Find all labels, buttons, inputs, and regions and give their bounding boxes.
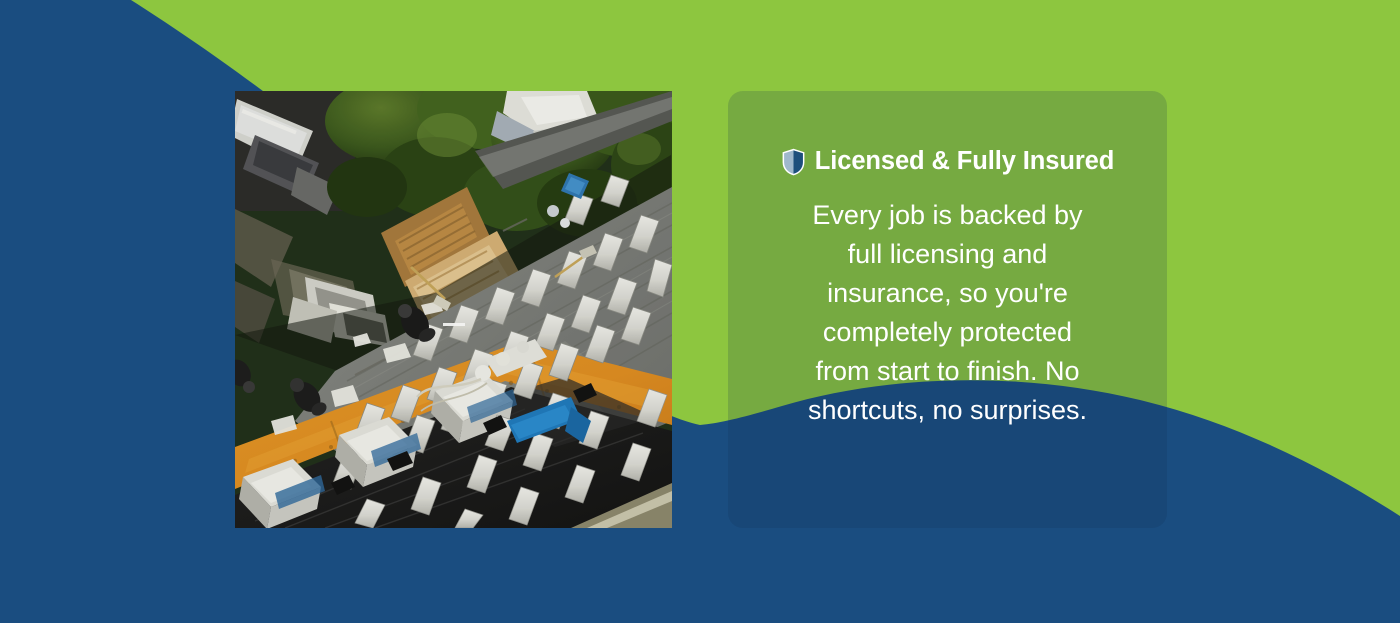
shield-icon [781,148,806,176]
aerial-roofing-jobsite-photo [235,91,672,528]
card-heading-text: Licensed & Fully Insured [815,147,1114,176]
card-heading: Licensed & Fully Insured [766,147,1129,176]
card-body-text: Every job is backed by full licensing an… [798,196,1098,430]
licensed-insured-card: Licensed & Fully Insured Every job is ba… [728,91,1167,528]
promo-banner: Licensed & Fully Insured Every job is ba… [0,0,1400,623]
background-shapes [0,0,1400,623]
